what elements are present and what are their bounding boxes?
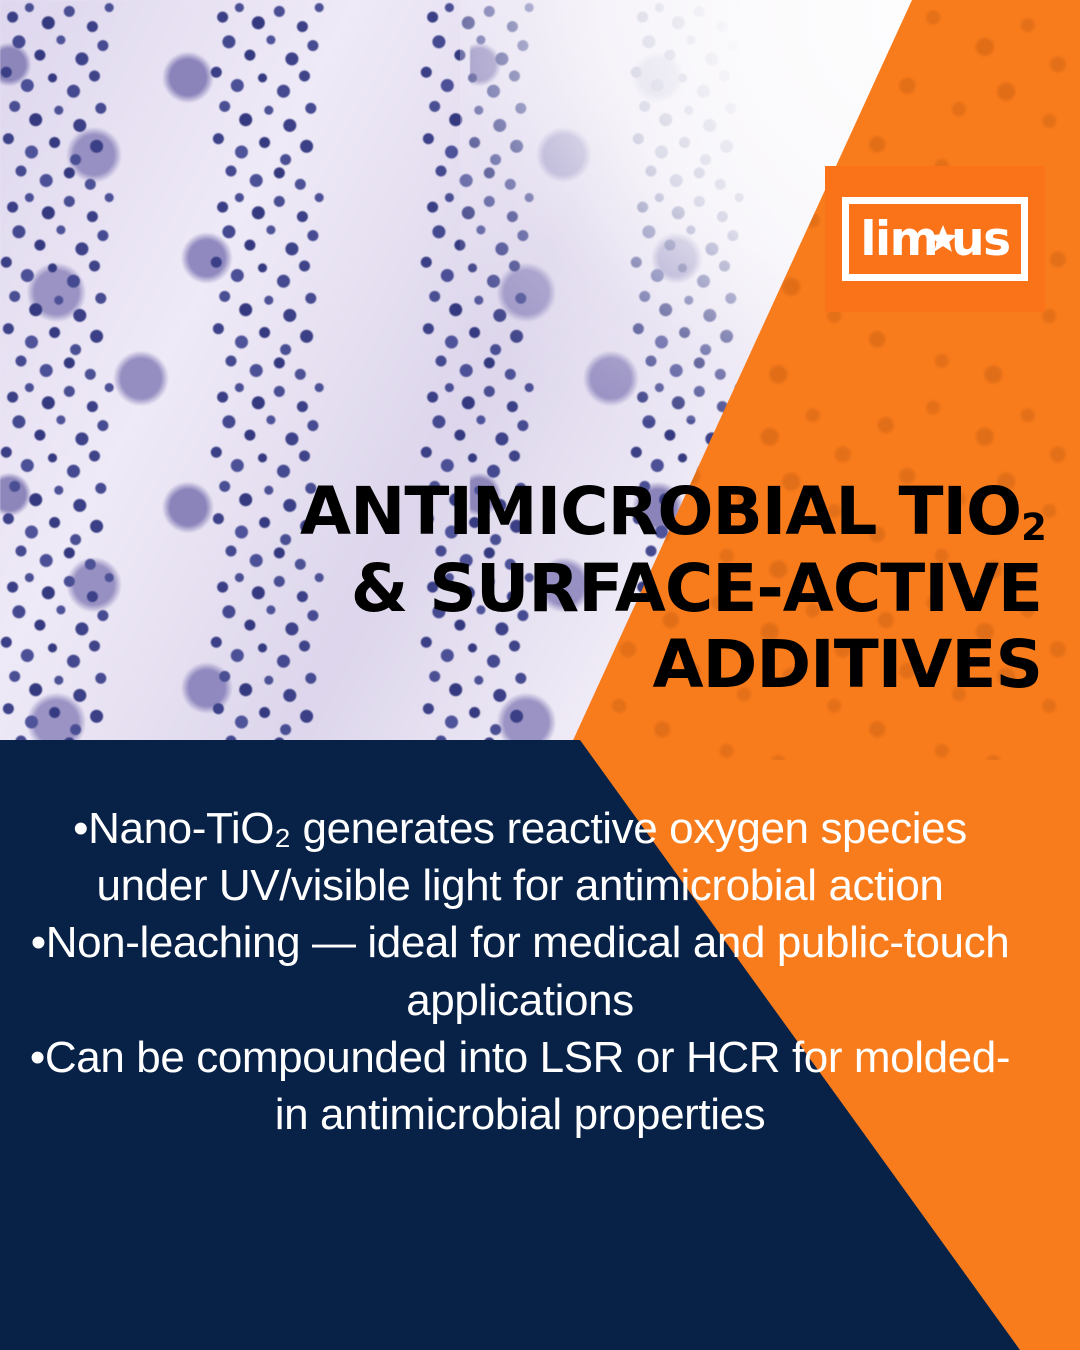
list-item: •Non-leaching — ideal for medical and pu… [20, 914, 1020, 1028]
headline-line-1-text: ANTIMICROBIAL TIO [300, 473, 1021, 550]
headline-line-2: & SURFACE-ACTIVE [300, 551, 1042, 628]
headline-line-1: ANTIMICROBIAL TIO2 [300, 474, 1042, 551]
list-item: •Can be compounded into LSR or HCR for m… [20, 1029, 1020, 1143]
headline-subscript: 2 [1021, 506, 1047, 549]
logo-wordmark: lim us [860, 216, 1009, 263]
logo-text-right: us [951, 216, 1009, 263]
page-title: ANTIMICROBIAL TIO2 & SURFACE-ACTIVE ADDI… [300, 474, 1042, 704]
brand-logo[interactable]: lim us [825, 166, 1045, 312]
list-item: •Nano-TiO₂ generates reactive oxygen spe… [20, 800, 1020, 914]
star-icon [928, 224, 958, 254]
logo-text-left: lim [860, 216, 937, 263]
logo-frame: lim us [842, 197, 1028, 281]
poster-canvas: lim us ANTIMICROBIAL TIO2 & SURFACE-ACTI… [0, 0, 1080, 1350]
bullet-list: •Nano-TiO₂ generates reactive oxygen spe… [20, 800, 1020, 1143]
headline-line-3: ADDITIVES [300, 627, 1042, 704]
